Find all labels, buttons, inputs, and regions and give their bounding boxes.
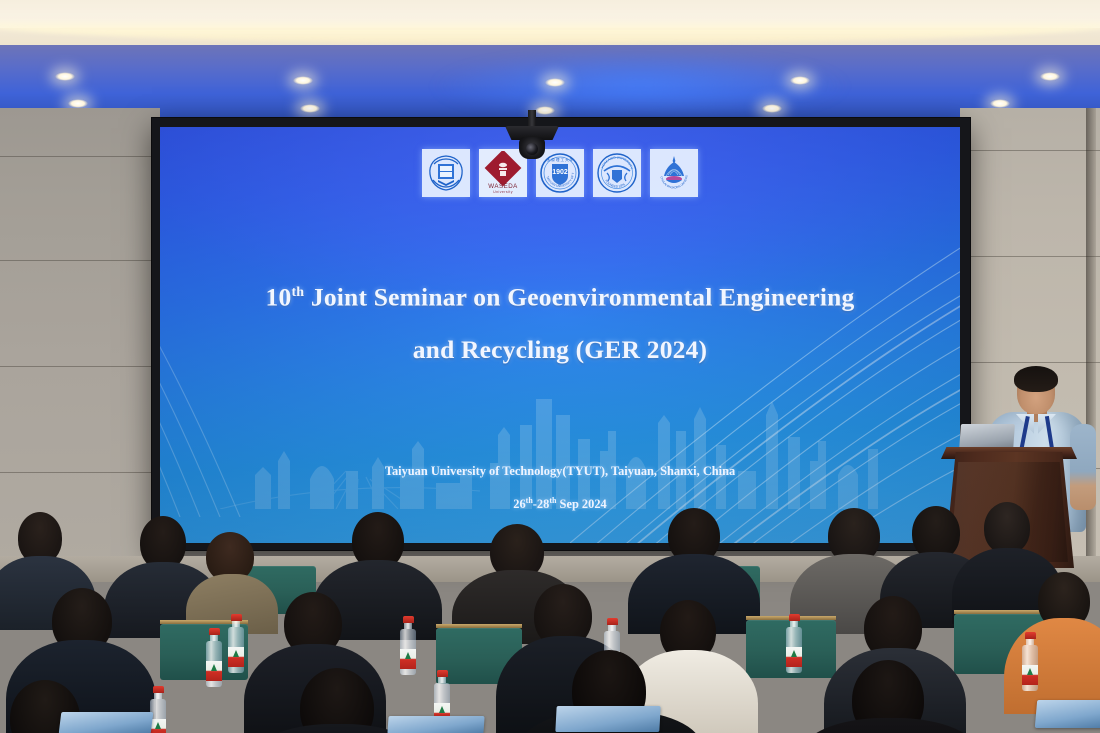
water-bottle <box>400 616 416 702</box>
bottle-cap <box>231 614 242 621</box>
bottle-leaf-icon <box>791 650 797 657</box>
bottle-cap <box>209 628 220 635</box>
attendee-laptop <box>387 716 484 733</box>
slide-subtitle-venue: Taiyuan University of Technology(TYUT), … <box>160 457 960 486</box>
slide-title-line-2: and Recycling (GER 2024) <box>160 324 960 376</box>
ceiling-blue-glow <box>430 50 850 122</box>
bottle-leaf-icon <box>439 706 445 713</box>
downlight-icon <box>1040 72 1060 81</box>
water-bottle <box>206 628 222 714</box>
downlight-icon <box>790 76 810 85</box>
speaker-right-arm <box>1070 424 1096 510</box>
bottle-cap <box>1025 632 1036 639</box>
camera-lens-icon <box>526 143 538 155</box>
downlight-icon <box>68 99 88 108</box>
water-bottle <box>150 686 166 733</box>
downlight-icon <box>55 72 75 81</box>
bottle-cap <box>437 670 448 677</box>
bottle-leaf-icon <box>211 664 217 671</box>
bottle-leaf-icon <box>1027 668 1033 675</box>
taiyuan-university-of-technology-logo: 1902 TAIYUAN UNIVERSITY OF TECHNOLOGY 太 … <box>536 149 584 197</box>
bottle-cap <box>789 614 800 621</box>
chulalongkorn-crest-icon: CHULALONGKORN UNIVERSITY <box>652 151 696 195</box>
attendee-laptop <box>1035 700 1100 728</box>
svg-text:University: University <box>493 190 513 194</box>
attendee-laptop <box>555 706 660 732</box>
downlight-icon <box>545 78 565 87</box>
water-bottle <box>1022 632 1038 718</box>
waseda-university-logo: WASEDA University <box>479 149 527 197</box>
slide-subtitle: Taiyuan University of Technology(TYUT), … <box>160 457 960 519</box>
chair-rail <box>954 610 1050 614</box>
university-crest-logo <box>422 149 470 197</box>
waseda-diamond-icon: WASEDA University <box>481 151 525 195</box>
downlight-icon <box>990 99 1010 108</box>
svg-text:WASEDA: WASEDA <box>488 183 518 190</box>
podium-laptop-screen <box>959 424 1015 451</box>
wall-left <box>0 108 160 568</box>
hokkaido-university-logo: HOKKAIDO UNIVERSITY FOUNDED 1876 <box>593 149 641 197</box>
attendee-laptop <box>59 712 154 733</box>
svg-text:太 原 理 工 大 学: 太 原 理 工 大 学 <box>547 157 574 162</box>
slide-title-line-1: 10th Joint Seminar on Geoenvironmental E… <box>160 267 960 324</box>
svg-text:1902: 1902 <box>552 169 568 176</box>
slide-title: 10th Joint Seminar on Geoenvironmental E… <box>160 267 960 376</box>
downlight-icon <box>293 76 313 85</box>
audience-head <box>984 502 1030 554</box>
speaker-hair <box>1014 366 1058 392</box>
water-bottle <box>228 614 244 700</box>
conference-hall-photo: WASEDA University 1902 TAIYUAN UNIVERSIT… <box>0 0 1100 733</box>
hokkaido-seal-icon: HOKKAIDO UNIVERSITY FOUNDED 1876 <box>595 151 639 195</box>
bottle-leaf-icon <box>233 650 239 657</box>
bottle-cap <box>403 616 414 623</box>
water-bottle <box>786 614 802 700</box>
bottle-cap <box>607 618 618 625</box>
bottle-cap <box>153 686 164 693</box>
bottle-leaf-icon <box>405 652 411 659</box>
logo-row: WASEDA University 1902 TAIYUAN UNIVERSIT… <box>160 149 960 197</box>
chair-rail <box>436 624 522 628</box>
downlight-icon <box>762 104 782 113</box>
crest-icon <box>425 152 467 194</box>
tyut-seal-icon: 1902 TAIYUAN UNIVERSITY OF TECHNOLOGY 太 … <box>538 151 582 195</box>
presentation-screen: WASEDA University 1902 TAIYUAN UNIVERSIT… <box>160 127 960 543</box>
downlight-icon <box>535 106 555 115</box>
chulalongkorn-university-logo: CHULALONGKORN UNIVERSITY <box>650 149 698 197</box>
downlight-icon <box>300 104 320 113</box>
bottle-leaf-icon <box>155 722 161 729</box>
